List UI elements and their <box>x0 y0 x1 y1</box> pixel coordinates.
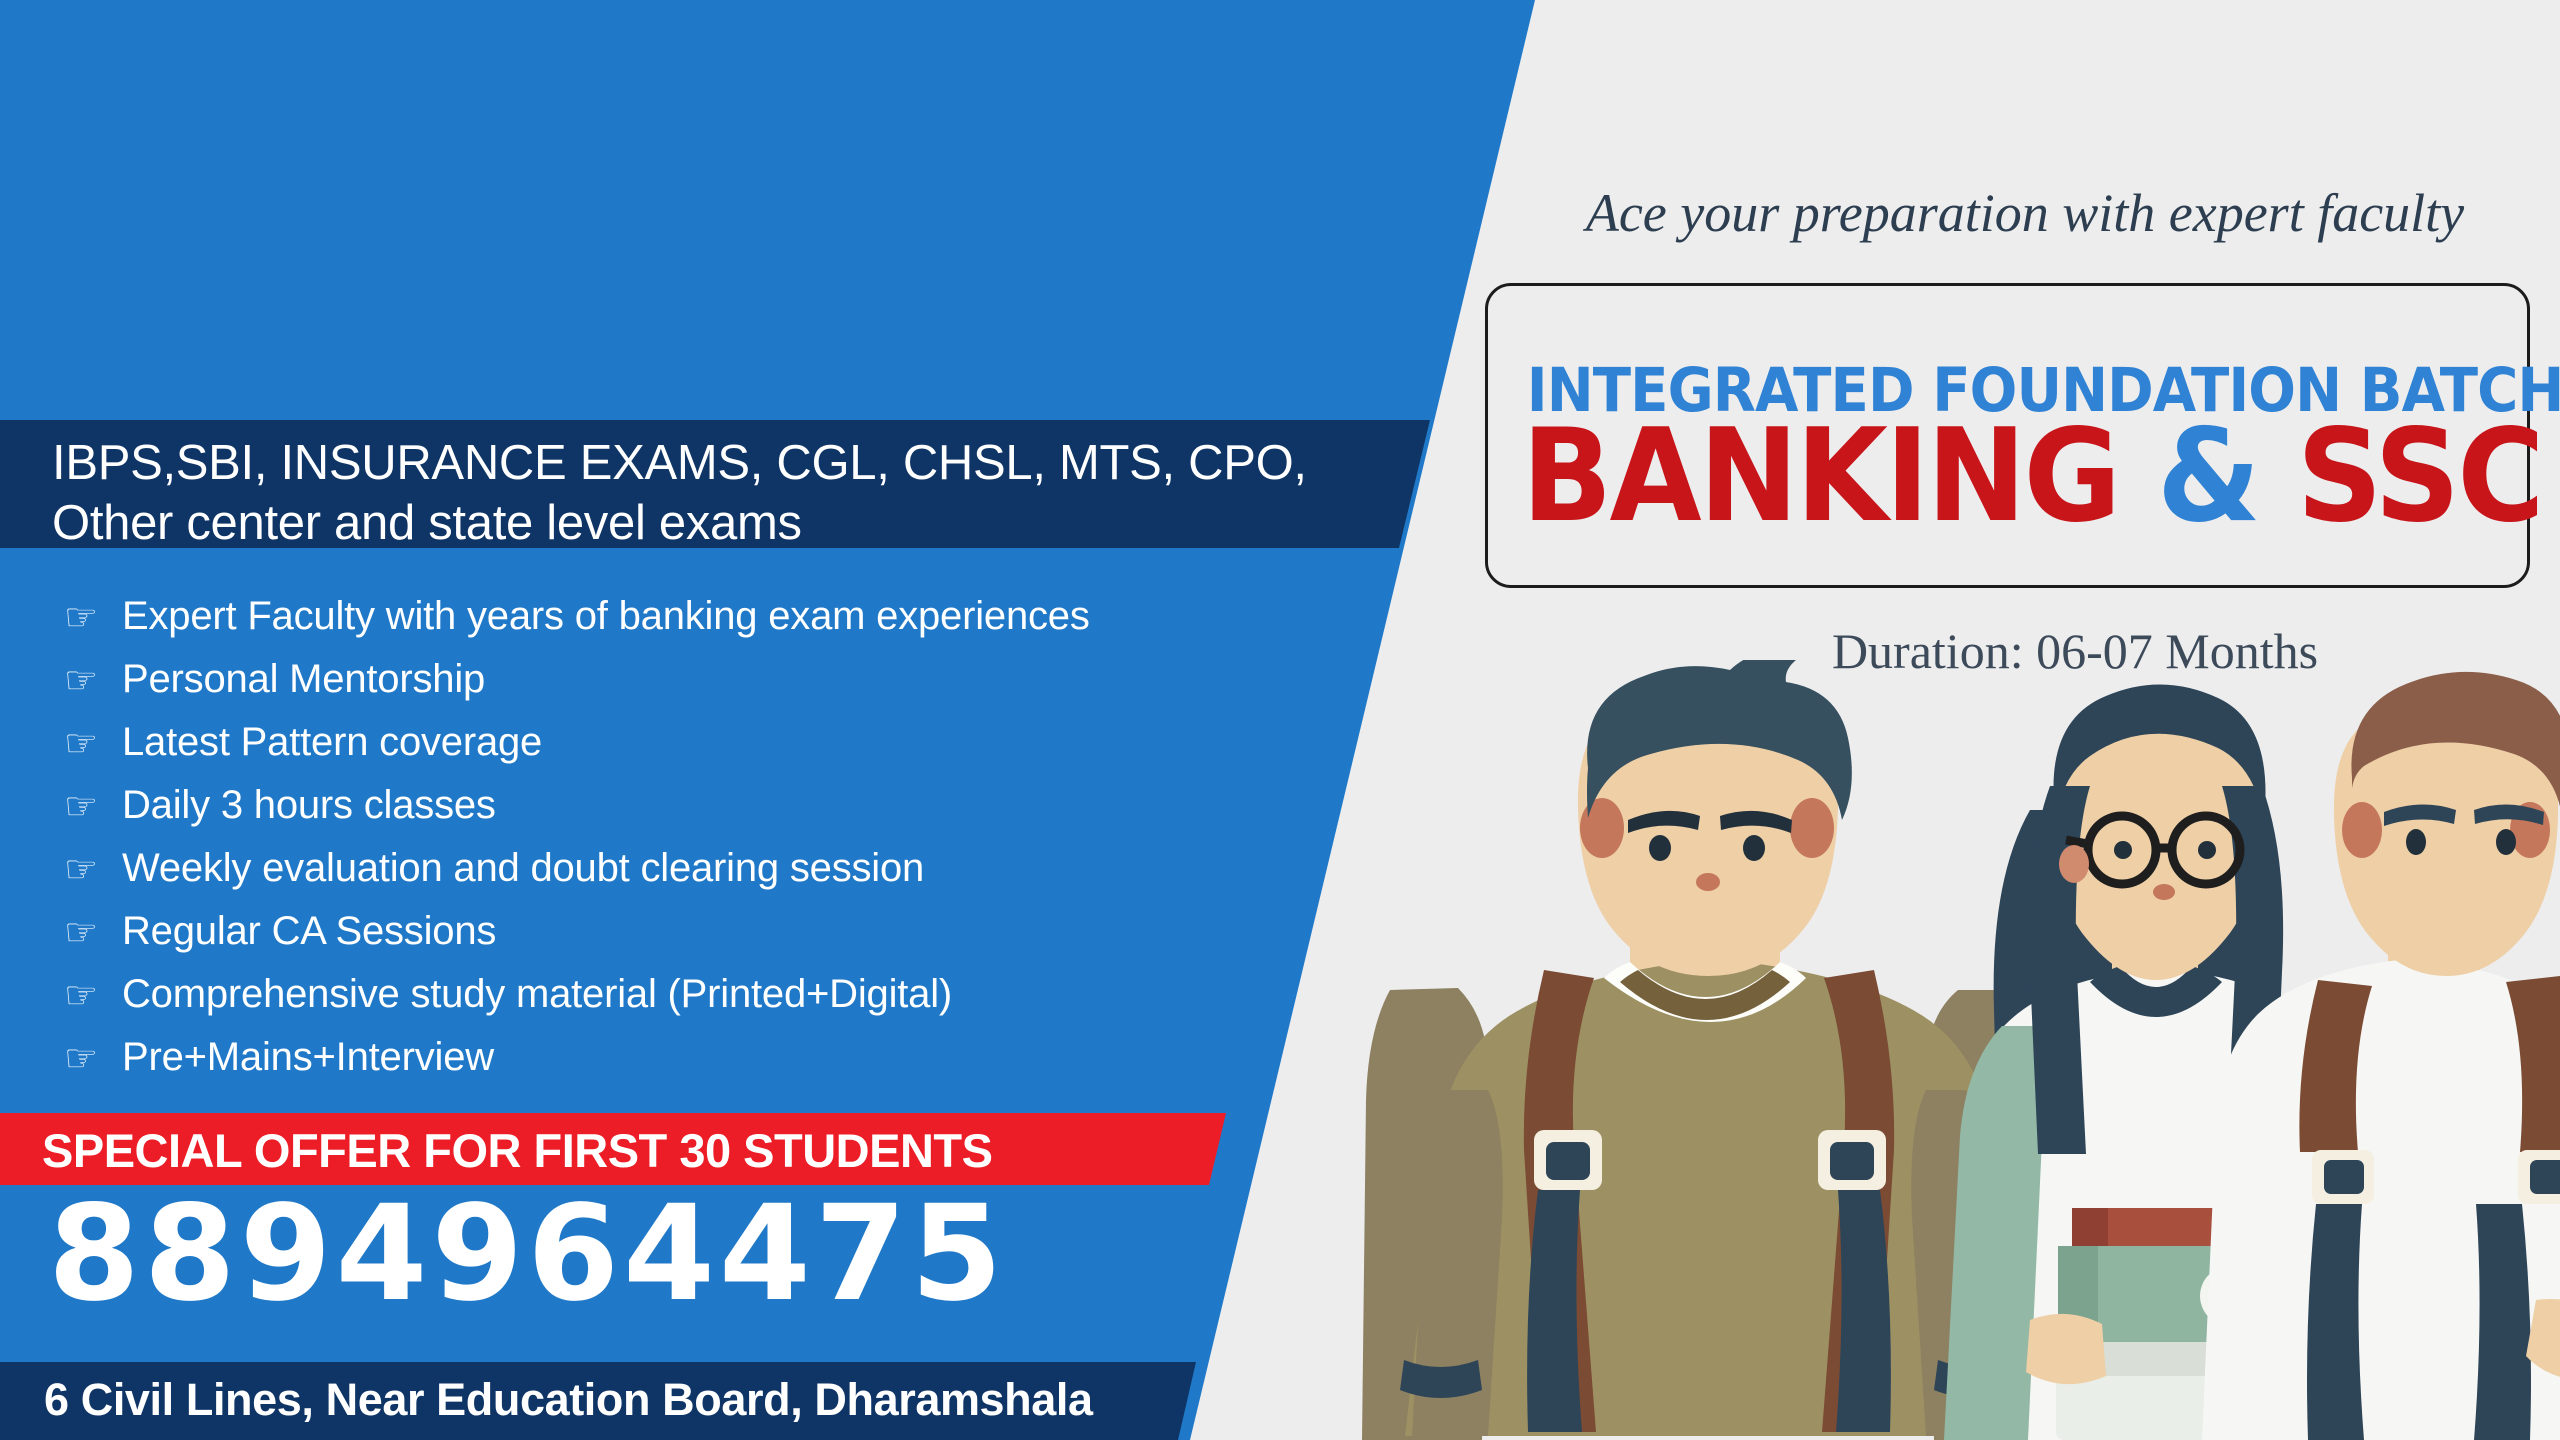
feature-item: ☞Expert Faculty with years of banking ex… <box>60 585 1090 648</box>
batch-title: BANKING & SSC <box>1522 410 2494 544</box>
feature-item-label: Daily 3 hours classes <box>122 783 496 828</box>
feature-item-label: Pre+Mains+Interview <box>122 1035 494 1080</box>
batch-title-ampersand: & <box>2118 402 2296 551</box>
feature-item: ☞Regular CA Sessions <box>60 900 1090 963</box>
feature-item-label: Comprehensive study material (Printed+Di… <box>122 972 952 1017</box>
exam-list-text: IBPS,SBI, INSURANCE EXAMS, CGL, CHSL, MT… <box>52 434 1307 554</box>
feature-list: ☞Expert Faculty with years of banking ex… <box>60 585 1090 1089</box>
pointing-hand-icon: ☞ <box>60 913 122 951</box>
feature-item-label: Latest Pattern coverage <box>122 720 542 765</box>
feature-item-label: Expert Faculty with years of banking exa… <box>122 594 1090 639</box>
feature-item: ☞Latest Pattern coverage <box>60 711 1090 774</box>
pointing-hand-icon: ☞ <box>60 787 122 825</box>
pointing-hand-icon: ☞ <box>60 724 122 762</box>
feature-item: ☞Weekly evaluation and doubt clearing se… <box>60 837 1090 900</box>
feature-item: ☞Comprehensive study material (Printed+D… <box>60 963 1090 1026</box>
batch-title-banking: BANKING <box>1522 402 2119 551</box>
feature-item-label: Weekly evaluation and doubt clearing ses… <box>122 846 924 891</box>
ace-tagline: Ace your preparation with expert faculty <box>1520 182 2530 244</box>
feature-item: ☞Daily 3 hours classes <box>60 774 1090 837</box>
duration-text: Duration: 06-07 Months <box>1620 622 2530 680</box>
pointing-hand-icon: ☞ <box>60 1039 122 1077</box>
phone-number[interactable]: 8894964475 <box>48 1185 1006 1324</box>
address-band: 6 Civil Lines, Near Education Board, Dha… <box>0 1362 1196 1440</box>
pointing-hand-icon: ☞ <box>60 976 122 1014</box>
batch-title-ssc: SSC <box>2297 402 2542 551</box>
address-text: 6 Civil Lines, Near Education Board, Dha… <box>44 1374 1093 1426</box>
feature-item: ☞Pre+Mains+Interview <box>60 1026 1090 1089</box>
pointing-hand-icon: ☞ <box>60 661 122 699</box>
exam-list-band: IBPS,SBI, INSURANCE EXAMS, CGL, CHSL, MT… <box>0 420 1430 548</box>
pointing-hand-icon: ☞ <box>60 850 122 888</box>
exam-list-line-1: IBPS,SBI, INSURANCE EXAMS, CGL, CHSL, MT… <box>52 434 1307 494</box>
exam-list-line-2: Other center and state level exams <box>52 494 1307 554</box>
feature-item: ☞Personal Mentorship <box>60 648 1090 711</box>
special-offer-text: SPECIAL OFFER FOR FIRST 30 STUDENTS <box>42 1123 992 1178</box>
pointing-hand-icon: ☞ <box>60 598 122 636</box>
special-offer-bar: SPECIAL OFFER FOR FIRST 30 STUDENTS <box>0 1113 1226 1185</box>
feature-item-label: Personal Mentorship <box>122 657 485 702</box>
poster-root: Ace your preparation with expert faculty… <box>0 0 2560 1440</box>
students-illustration <box>1330 660 2560 1440</box>
feature-item-label: Regular CA Sessions <box>122 909 496 954</box>
